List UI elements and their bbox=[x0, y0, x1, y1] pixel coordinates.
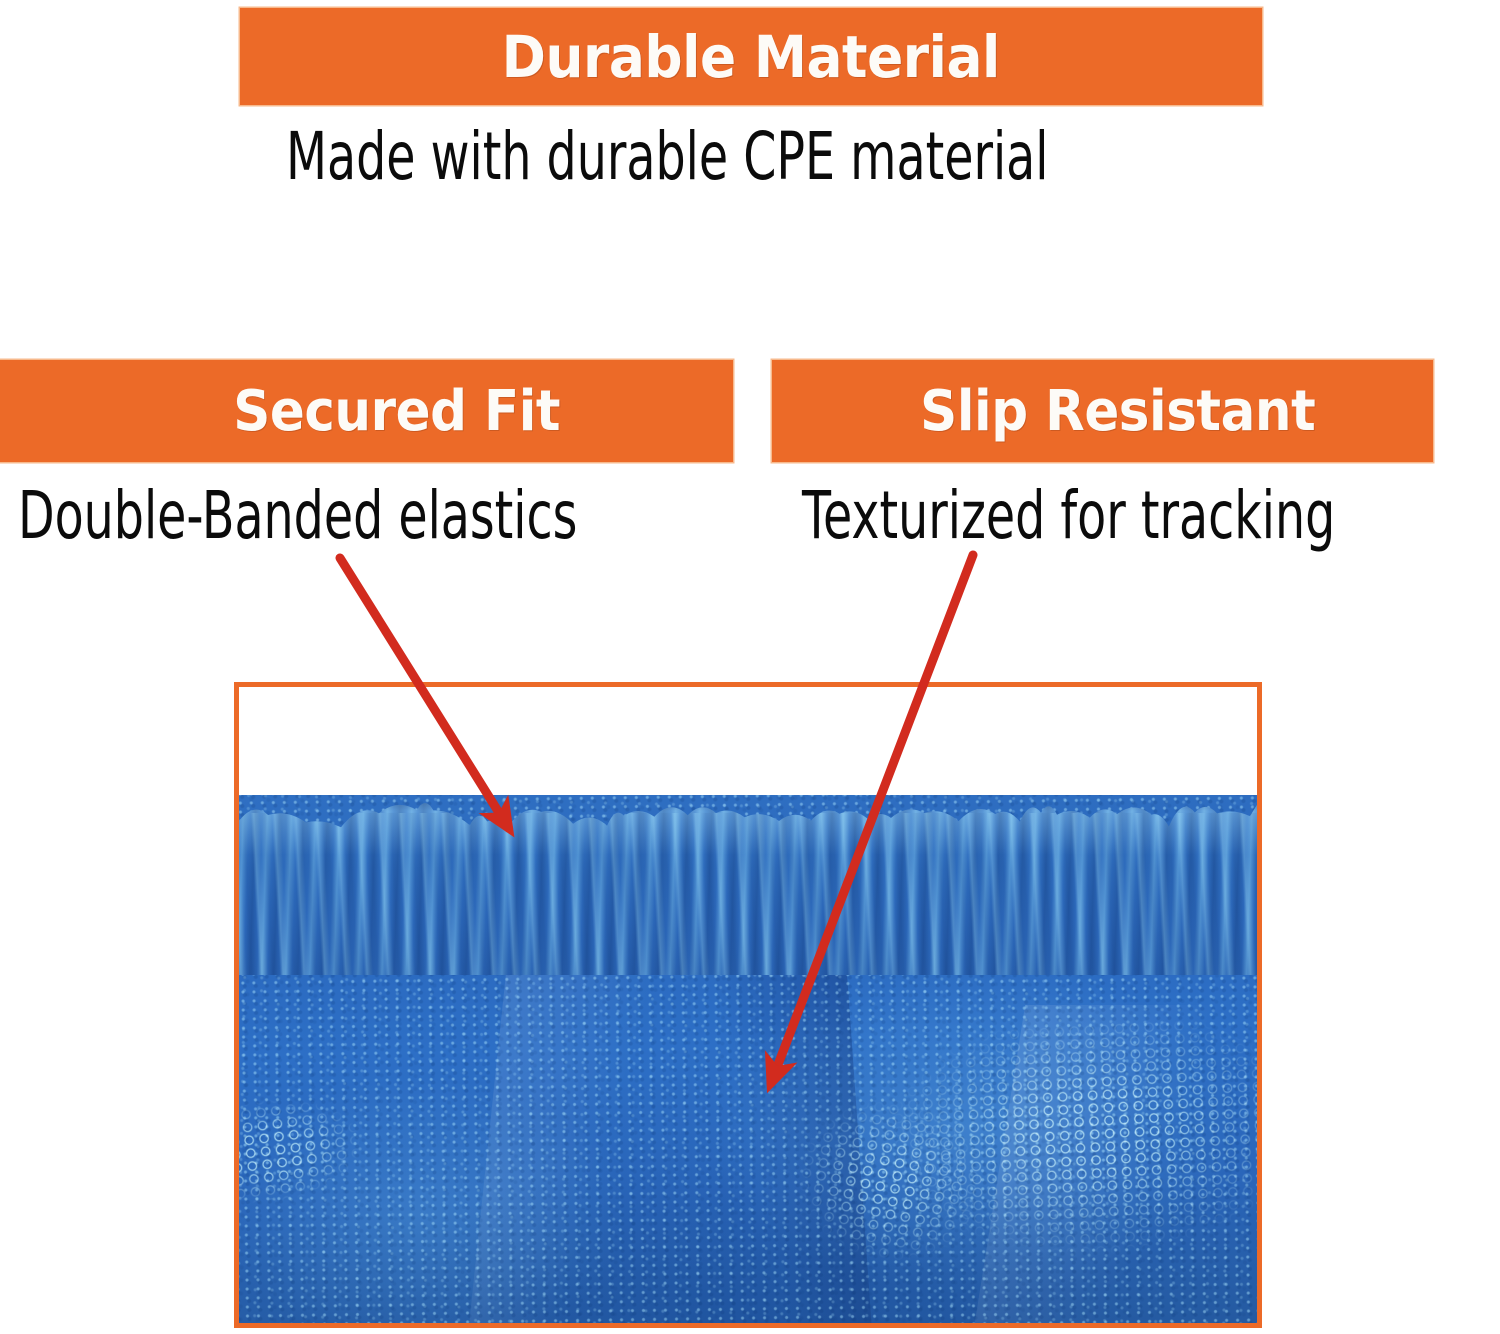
feature-banner-label: Secured Fit bbox=[233, 379, 560, 444]
product-photo-blue-cpe-fabric bbox=[239, 687, 1257, 1323]
fabric-region bbox=[239, 795, 1257, 1323]
elastic-band-top-hem bbox=[239, 795, 1257, 811]
feature-banner-label: Slip Resistant bbox=[920, 379, 1315, 444]
infographic-canvas: Durable Material Made with durable CPE m… bbox=[0, 0, 1500, 1334]
fabric-bubble-cluster-left bbox=[239, 1073, 446, 1228]
elastic-band-base bbox=[239, 795, 1257, 975]
feature-banner-secured-fit: Secured Fit bbox=[0, 360, 733, 462]
feature-banner-slip-resistant: Slip Resistant bbox=[772, 360, 1433, 462]
feature-caption-slip-resistant: Texturized for tracking bbox=[802, 477, 1335, 554]
feature-banner-durable-material: Durable Material bbox=[240, 8, 1262, 105]
feature-caption-durable-material: Made with durable CPE material bbox=[286, 118, 1049, 195]
fabric-bubble-cluster-right bbox=[872, 1015, 1257, 1306]
elastic-gathered-band bbox=[239, 795, 1257, 975]
feature-banner-label: Durable Material bbox=[502, 23, 1000, 91]
feature-caption-secured-fit: Double-Banded elastics bbox=[18, 477, 577, 554]
product-photo-frame bbox=[234, 682, 1262, 1328]
